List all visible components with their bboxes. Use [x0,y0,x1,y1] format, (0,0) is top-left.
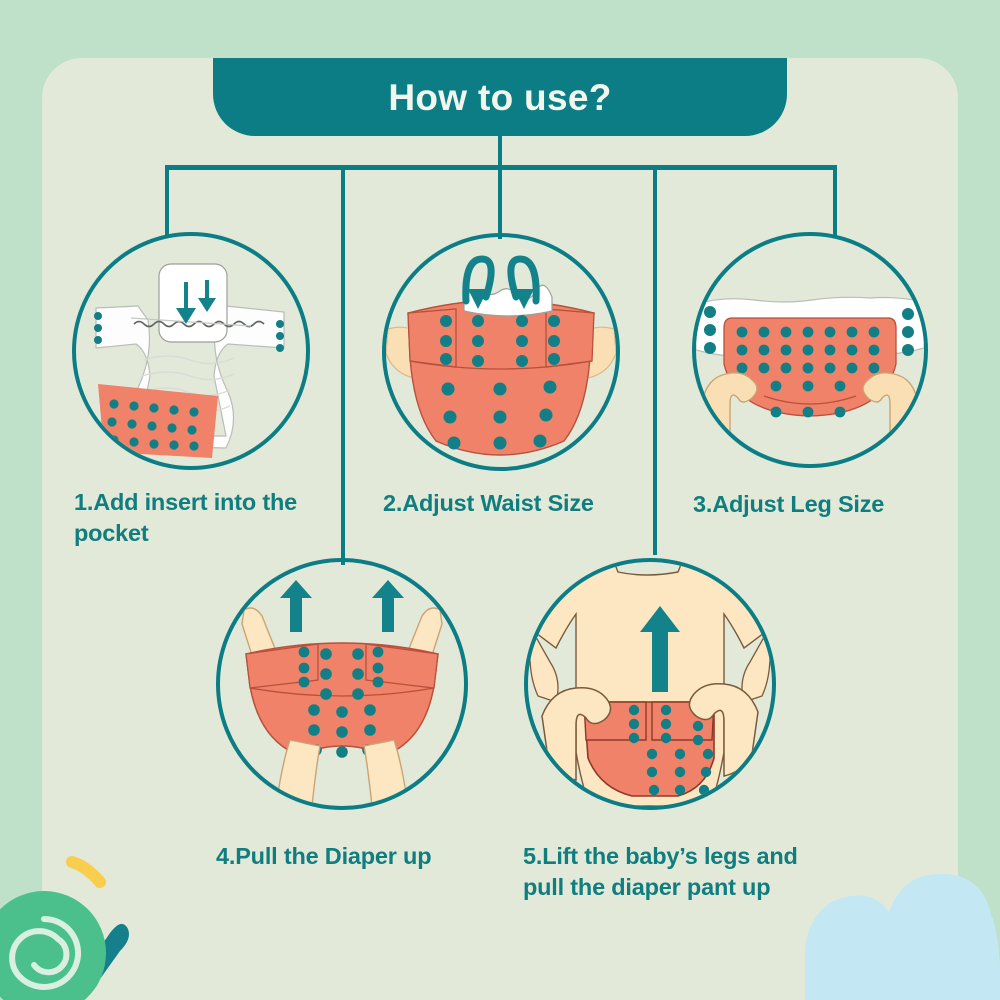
connector-drop-1 [165,165,169,237]
step-5-caption: 5.Lift the baby’s legs and pull the diap… [523,841,823,903]
cloud-shape [805,862,1000,1000]
diaper-front-shape [408,301,594,455]
step-2-caption: 2.Adjust Waist Size [383,488,643,519]
diaper-body-shape [246,643,438,760]
step-4-illustration [216,558,468,810]
up-arrow-icon [280,580,404,632]
yellow-dash-accent [66,856,112,895]
step-3-illustration [692,232,928,468]
infographic-canvas: How to use? [0,0,1000,1000]
page-title: How to use? [388,79,611,116]
insert-shape [159,264,227,342]
step-1-illustration [72,232,310,470]
step-2-illustration [382,233,620,471]
connector-drop-2 [341,165,345,565]
step-4-caption: 4.Pull the Diaper up [216,841,496,872]
connector-drop-3 [498,165,502,239]
step-5-illustration [524,558,776,810]
step-1-caption: 1.Add insert into the pocket [74,487,336,549]
connector-drop-4 [653,165,657,555]
header-banner: How to use? [213,58,787,136]
step-3-caption: 3.Adjust Leg Size [693,489,943,520]
connector-drop-5 [833,165,837,237]
